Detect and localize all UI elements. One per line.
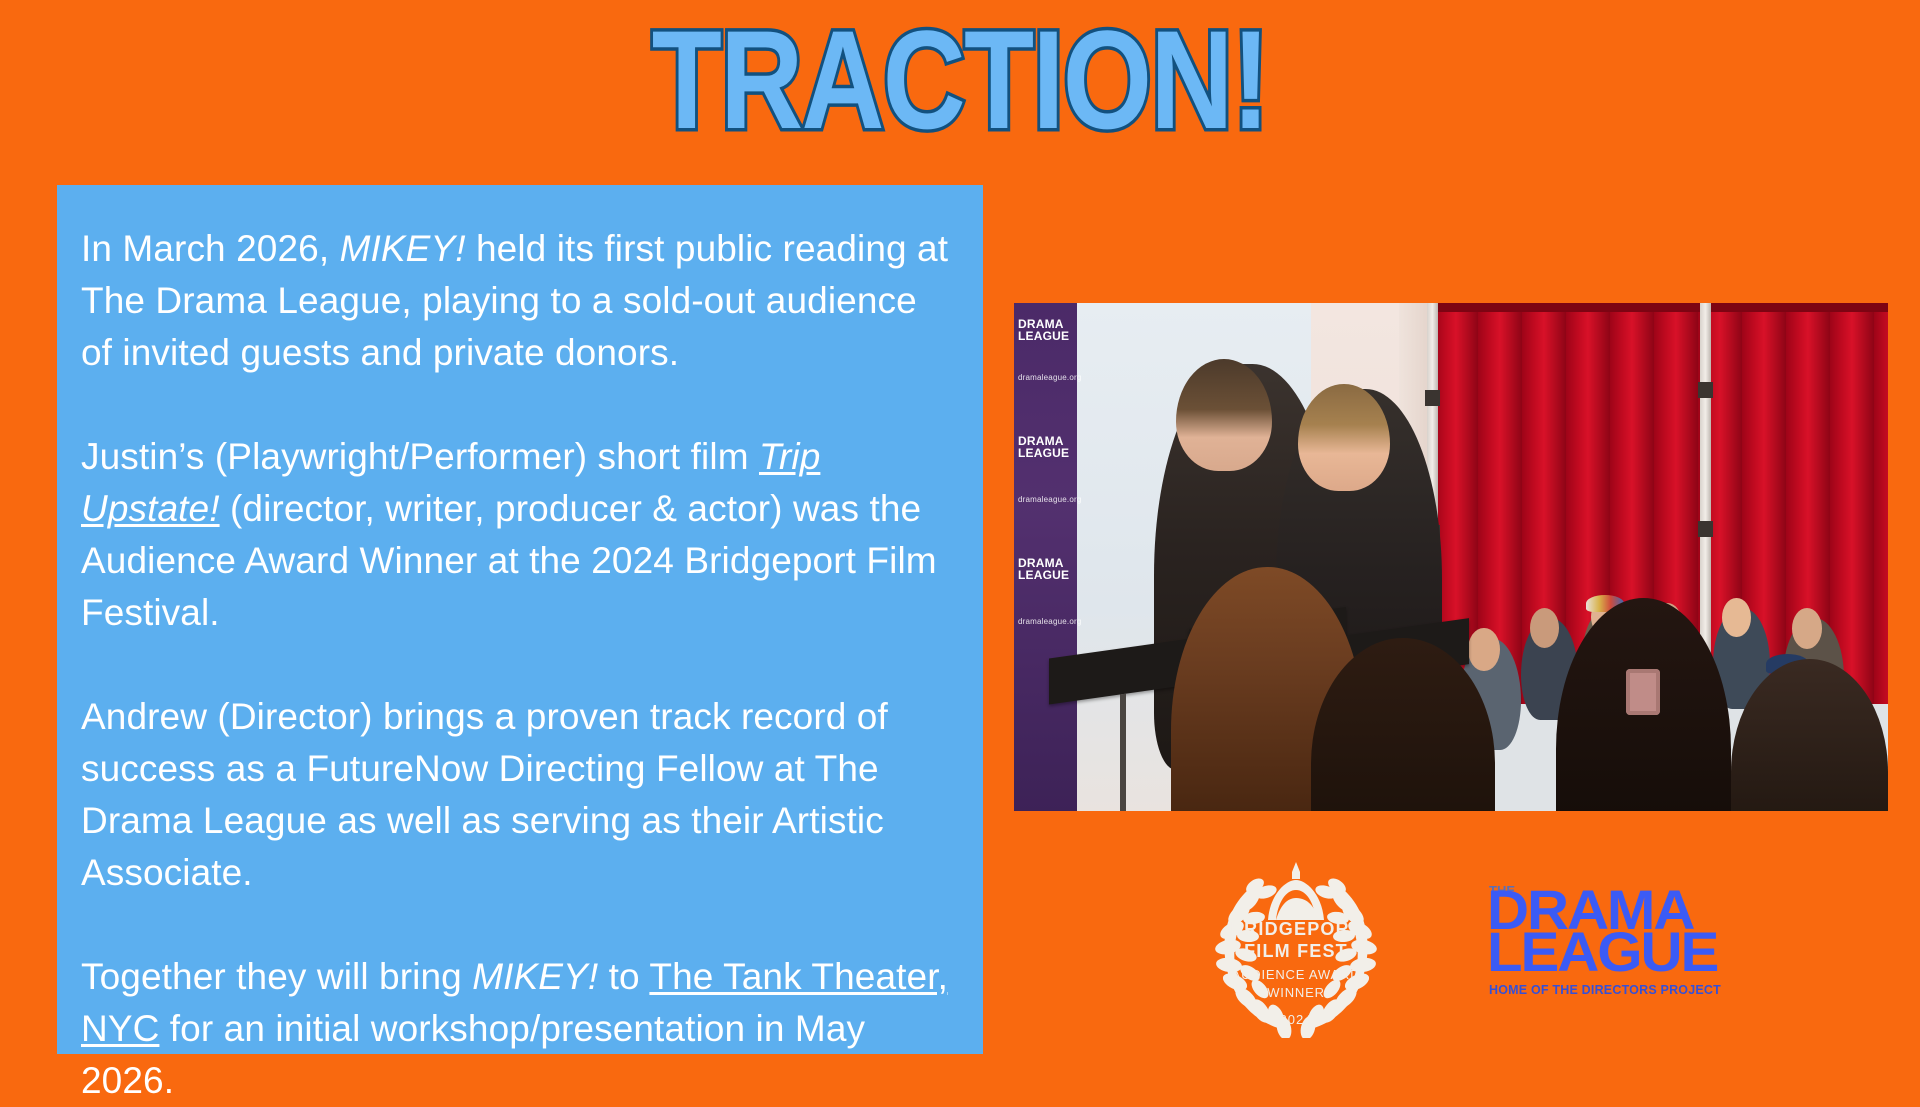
p4-run-1: Together they will bring — [81, 956, 472, 997]
audience-head — [1468, 628, 1499, 671]
p3-run-1: Andrew (Director) brings a proven track … — [81, 696, 888, 893]
banner-line-5: DRAMA LEAGUE — [1018, 557, 1075, 581]
paragraph-2: Justin’s (Playwright/Performer) short fi… — [81, 431, 953, 639]
performer-head — [1176, 359, 1272, 471]
p4-run-5: for an initial workshop/presentation in … — [81, 1008, 865, 1101]
paragraph-3: Andrew (Director) brings a proven track … — [81, 691, 953, 899]
body-copy: In March 2026, MIKEY! held its first pub… — [81, 223, 953, 1107]
laurel-line-2: FILM FEST — [1244, 942, 1348, 960]
laurel-line-4: WINNER — [1267, 986, 1325, 999]
bridgeport-film-fest-laurel-badge: BRIDGEPORT FILM FEST AUDIENCE AWARD WINN… — [1196, 848, 1396, 1038]
paragraph-1: In March 2026, MIKEY! held its first pub… — [81, 223, 953, 379]
p4-run-3: to — [598, 956, 649, 997]
p4-title-mikey: MIKEY! — [472, 956, 598, 997]
banner-line-6: dramaleague.org — [1018, 618, 1075, 626]
banner-line-4: dramaleague.org — [1018, 496, 1075, 504]
event-photo: DRAMA LEAGUE dramaleague.org DRAMA LEAGU… — [1014, 303, 1888, 811]
audience-head — [1722, 598, 1751, 638]
page-title: TRACTION! — [173, 6, 1747, 153]
text-panel: In March 2026, MIKEY! held its first pub… — [57, 185, 983, 1054]
p1-run-1: In March 2026, — [81, 228, 340, 269]
laurel-line-3: AUDIENCE AWARD — [1232, 968, 1361, 981]
laurel-line-1: BRIDGEPORT — [1230, 920, 1362, 938]
banner-line-3: DRAMA LEAGUE — [1018, 435, 1075, 459]
performer-head — [1298, 384, 1390, 491]
banner-line-2: dramaleague.org — [1018, 374, 1075, 382]
paragraph-4: Together they will bring MIKEY! to The T… — [81, 951, 953, 1107]
p2-run-1: Justin’s (Playwright/Performer) short fi… — [81, 436, 759, 477]
banner-line-1: DRAMA LEAGUE — [1018, 318, 1075, 342]
p1-title-mikey: MIKEY! — [340, 228, 466, 269]
photo-drama-league-banner: DRAMA LEAGUE dramaleague.org DRAMA LEAGU… — [1014, 303, 1077, 811]
laurel-year: 2024 — [1280, 1013, 1313, 1026]
logo-tagline: HOME OF THE DIRECTORS PROJECT — [1489, 983, 1721, 997]
drama-league-logo: THE DRAMA LEAGUE HOME OF THE DIRECTORS P… — [1487, 880, 1733, 1002]
logo-league: LEAGUE — [1487, 928, 1717, 976]
hair-clip — [1626, 669, 1660, 715]
